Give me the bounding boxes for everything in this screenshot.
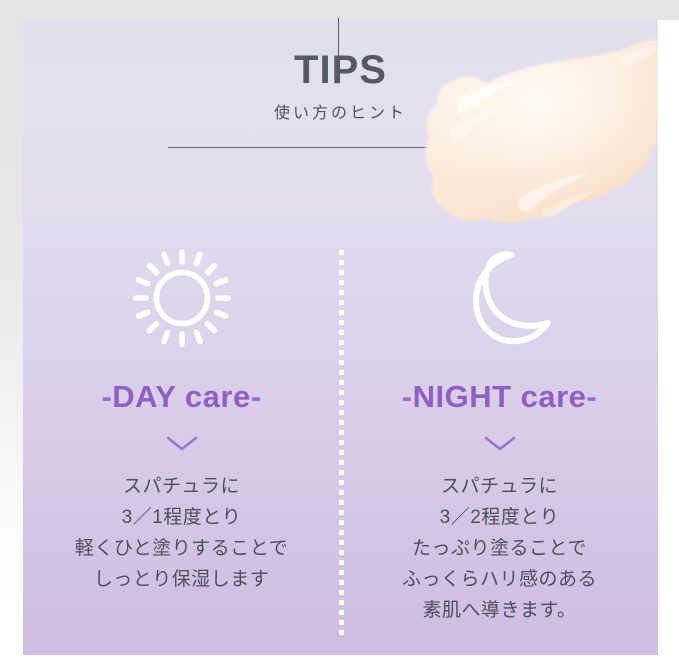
day-desc-line: 軽くひと塗りすることで <box>23 533 340 564</box>
page-subtitle: 使い方のヒント <box>23 106 658 122</box>
main-panel: TIPS 使い方のヒント <box>23 18 658 655</box>
care-columns: -DAY care- スパチュラに 3／1程度とり 軽くひと塗りすることで しっ… <box>23 223 658 655</box>
background-left-strip <box>0 0 24 600</box>
day-desc-line: しっとり保湿します <box>23 564 340 595</box>
day-title-label: DAY care <box>112 379 250 414</box>
night-title-label: NIGHT care <box>413 379 587 414</box>
night-desc-line: スパチュラに <box>341 471 658 502</box>
day-title-dash-left: - <box>101 379 112 414</box>
night-desc-line: 3／2程度とり <box>341 502 658 533</box>
night-title-dash-right: - <box>586 379 597 414</box>
day-desc-line: スパチュラに <box>23 471 340 502</box>
page-title: TIPS <box>23 50 658 90</box>
night-desc-line: ふっくらハリ感のある <box>341 564 658 595</box>
sun-icon <box>23 243 340 353</box>
background-top-strip <box>0 0 679 20</box>
tips-infographic: TIPS 使い方のヒント <box>0 0 679 659</box>
night-care-description: スパチュラに 3／2程度とり たっぷり塗ることで ふっくらハリ感のある 素肌へ導… <box>341 471 658 626</box>
chevron-down-icon <box>165 435 199 453</box>
night-title-dash-left: - <box>402 379 413 414</box>
night-desc-line: たっぷり塗ることで <box>341 533 658 564</box>
night-care-column: -NIGHT care- スパチュラに 3／2程度とり たっぷり塗ることで ふっ… <box>341 223 658 655</box>
day-title-dash-right: - <box>251 379 262 414</box>
chevron-down-icon <box>483 435 517 453</box>
day-care-column: -DAY care- スパチュラに 3／1程度とり 軽くひと塗りすることで しっ… <box>23 223 340 655</box>
night-chevron <box>341 435 658 453</box>
day-care-description: スパチュラに 3／1程度とり 軽くひと塗りすることで しっとり保湿します <box>23 471 340 595</box>
day-desc-line: 3／1程度とり <box>23 502 340 533</box>
night-desc-line: 素肌へ導きます。 <box>341 595 658 626</box>
day-chevron <box>23 435 340 453</box>
moon-icon <box>341 243 658 353</box>
title-underline-rule <box>168 147 451 148</box>
night-care-title: -NIGHT care- <box>341 381 658 412</box>
day-care-title: -DAY care- <box>23 381 340 412</box>
